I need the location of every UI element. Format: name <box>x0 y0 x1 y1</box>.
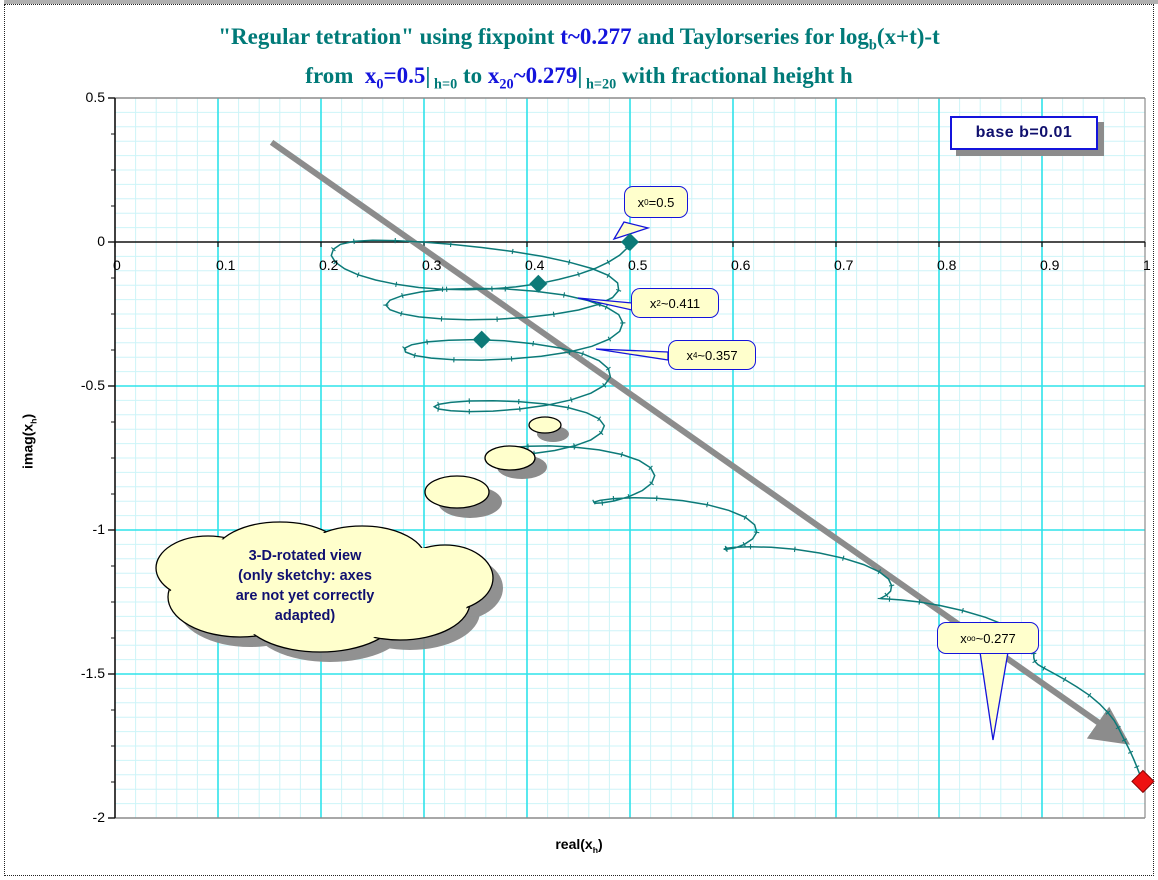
x-tick-label: 0.6 <box>731 257 750 273</box>
x-tick-label: 0.2 <box>319 257 338 273</box>
x-tick-label: 0.8 <box>937 257 956 273</box>
y-tick-label: -1 <box>53 521 105 537</box>
x-axis-title-base: real(x <box>555 836 592 852</box>
x-axis-title-close: ) <box>598 836 603 852</box>
callout-x2: x2 ~0.411 <box>631 288 719 318</box>
x-tick-label: 0.9 <box>1040 257 1059 273</box>
cloud-annotation-text: 3-D-rotated view (only sketchy: axes are… <box>190 546 420 626</box>
y-tick-label: -0.5 <box>53 377 105 393</box>
callout-x0-rest: =0.5 <box>649 195 675 210</box>
x-tick-label: 0.5 <box>628 257 647 273</box>
callout-x4: x4 ~0.357 <box>668 340 756 370</box>
y-tick-label: -1.5 <box>53 665 105 681</box>
base-legend-label: base b=0.01 <box>976 124 1073 142</box>
figure-frame: "Regular tetration" using fixpoint t~0.2… <box>0 0 1158 880</box>
x-tick-label: 0 <box>113 257 121 273</box>
callout-xinf-rest: ~0.277 <box>976 631 1016 646</box>
callout-xinf-sub: oo <box>967 634 976 643</box>
base-legend-box: base b=0.01 <box>950 116 1098 150</box>
y-tick-label: -2 <box>53 809 105 825</box>
cloud-line-1: 3-D-rotated view <box>190 546 420 566</box>
cloud-line-2: (only sketchy: axes <box>190 566 420 586</box>
y-axis-title: imag(xh) <box>20 386 39 496</box>
y-tick-label: 0.5 <box>53 89 105 105</box>
y-axis-title-base: imag(x <box>20 424 36 469</box>
callout-x2-rest: ~0.411 <box>661 296 700 311</box>
cloud-line-3: are not yet correctly <box>190 586 420 606</box>
y-axis-title-sub: h <box>28 419 38 424</box>
x-tick-label: 0.4 <box>525 257 544 273</box>
cloud-line-4: adapted) <box>190 606 420 626</box>
x-tick-label: 0.7 <box>834 257 853 273</box>
x-tick-label: 0.1 <box>216 257 235 273</box>
x-tick-label: 1 <box>1143 257 1151 273</box>
x-tick-label: 0.3 <box>422 257 441 273</box>
y-tick-label: 0 <box>53 233 105 249</box>
y-axis-title-close: ) <box>20 414 36 419</box>
callout-x0: x0=0.5 <box>624 186 688 218</box>
x-axis-title: real(xh) <box>0 836 1158 855</box>
callout-x4-rest: ~0.357 <box>697 348 737 363</box>
y-tick-marks-minor <box>111 98 115 818</box>
callout-xinf: xoo ~0.277 <box>937 622 1039 654</box>
